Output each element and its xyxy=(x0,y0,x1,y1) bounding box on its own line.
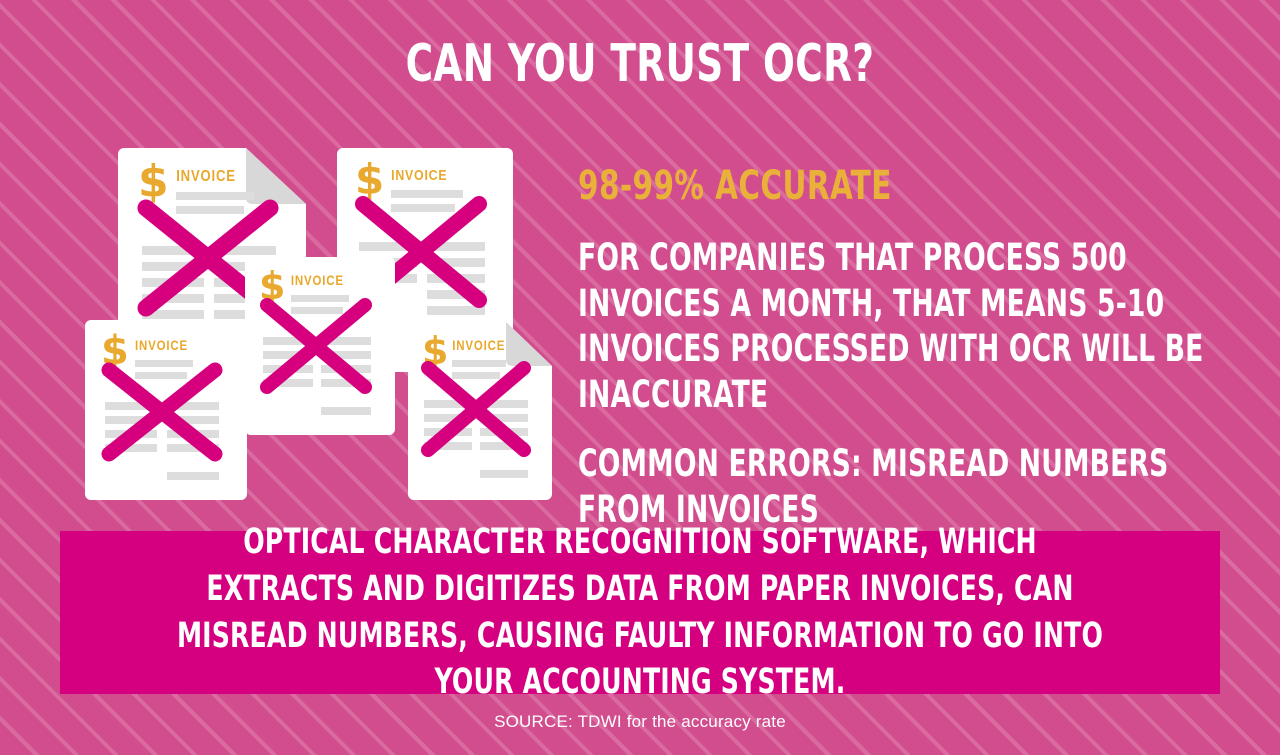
invoice-document-center: $ INVOICE xyxy=(245,257,395,435)
summary-banner: OPTICAL CHARACTER RECOGNITION SOFTWARE, … xyxy=(60,531,1220,694)
dollar-icon: $ xyxy=(355,155,384,204)
invoice-label: INVOICE xyxy=(391,167,447,183)
body-paragraph-2: COMMON ERRORS: MISREAD NUMBERS FROM INVO… xyxy=(578,441,1218,532)
folded-corner-icon xyxy=(506,322,552,366)
invoice-label: INVOICE xyxy=(176,168,236,185)
body-paragraph-1: FOR COMPANIES THAT PROCESS 500 INVOICES … xyxy=(578,235,1218,417)
invoice-label: INVOICE xyxy=(135,337,188,353)
folded-corner-icon xyxy=(246,148,306,204)
invoice-label: INVOICE xyxy=(291,272,344,288)
accuracy-headline: 98-99% ACCURATE xyxy=(578,165,1103,207)
invoice-document-bottom-right: $ INVOICE xyxy=(408,322,552,500)
dollar-icon: $ xyxy=(138,156,169,207)
summary-banner-text: OPTICAL CHARACTER RECOGNITION SOFTWARE, … xyxy=(176,519,1104,705)
invoice-document-bottom-left: $ INVOICE xyxy=(85,320,247,500)
right-text-column: 98-99% ACCURATE FOR COMPANIES THAT PROCE… xyxy=(578,165,1218,532)
infographic-canvas: CAN YOU TRUST OCR? $ INVOICE xyxy=(0,0,1280,755)
source-attribution: SOURCE: TDWI for the accuracy rate xyxy=(0,712,1280,732)
invoice-label: INVOICE xyxy=(452,337,505,353)
invoice-illustration-group: $ INVOICE xyxy=(0,0,580,530)
